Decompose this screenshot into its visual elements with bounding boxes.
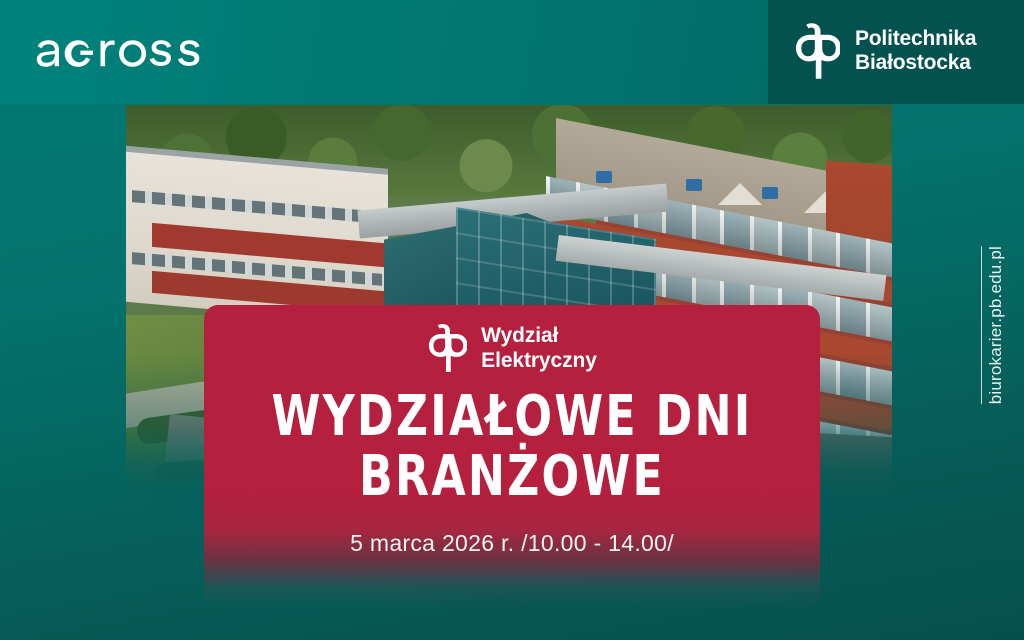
university-name-line2: Białostocka: [855, 51, 976, 75]
across-wordmark-icon: [36, 28, 208, 72]
career-office-url[interactable]: biurokarier.pb.edu.pl: [981, 246, 1006, 404]
faculty-name: Wydział Elektryczny: [481, 323, 597, 373]
faculty-name-line1: Wydział: [481, 323, 597, 348]
across-logo[interactable]: across: [36, 28, 208, 72]
poster-canvas: across Politechnika Białostocka: [0, 0, 1024, 640]
pb-monogram-icon: [794, 22, 840, 80]
university-name-line1: Politechnika: [855, 27, 976, 51]
event-title-line1: WYDZIAŁOWE DNI: [241, 387, 783, 447]
event-title-line2: BRANŻOWE: [241, 447, 783, 507]
university-name: Politechnika Białostocka: [855, 27, 976, 75]
faculty-name-line2: Elektryczny: [481, 348, 597, 373]
pb-monogram-icon: [427, 323, 467, 373]
university-logo-lockup[interactable]: Politechnika Białostocka: [794, 22, 976, 80]
event-title: WYDZIAŁOWE DNI BRANŻOWE: [241, 387, 783, 507]
event-date: 5 marca 2026 r. /10.00 - 14.00/: [204, 529, 820, 557]
event-card: Wydział Elektryczny WYDZIAŁOWE DNI BRANŻ…: [204, 305, 820, 610]
faculty-lockup: Wydział Elektryczny: [204, 305, 820, 373]
header-band: across Politechnika Białostocka: [0, 0, 1024, 104]
